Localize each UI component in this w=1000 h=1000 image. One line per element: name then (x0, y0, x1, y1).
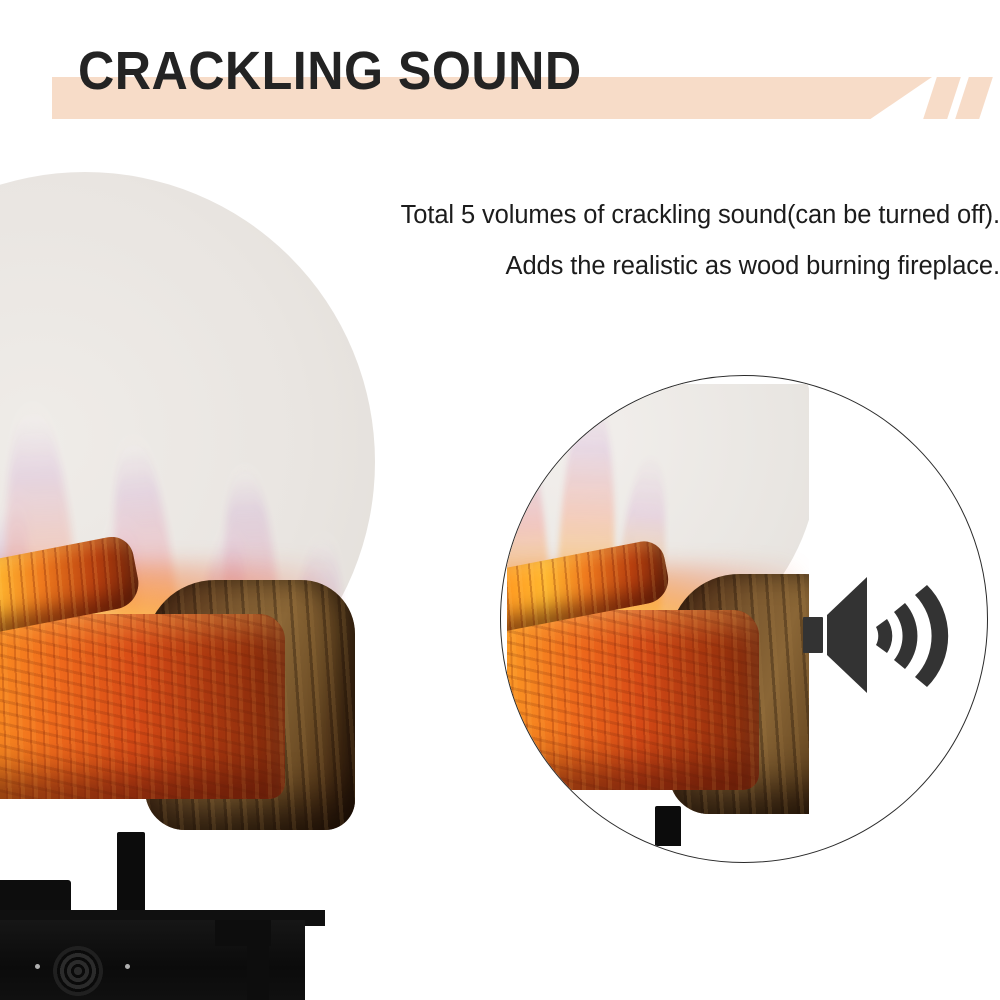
banner-slash-decoration (923, 77, 961, 119)
glowing-main-log (0, 614, 285, 799)
product-feature-page: CRACKLING SOUND Total 5 volumes of crack… (0, 0, 1000, 1000)
led-indicator (35, 964, 40, 969)
speaker-grille-icon (53, 946, 103, 996)
description-line-2: Adds the realistic as wood burning firep… (255, 241, 1000, 292)
feature-description: Total 5 volumes of crackling sound(can b… (255, 190, 1000, 292)
detail-inset-circle (500, 375, 988, 863)
description-line-1: Total 5 volumes of crackling sound(can b… (255, 190, 1000, 241)
detail-inset-photo (507, 384, 809, 846)
led-indicator (125, 964, 130, 969)
chassis-leg (247, 940, 269, 1000)
log-assembly (0, 502, 415, 952)
banner-slash-decoration (955, 77, 993, 119)
speaker-volume-icon (801, 571, 979, 697)
page-title: CRACKLING SOUND (78, 44, 582, 98)
